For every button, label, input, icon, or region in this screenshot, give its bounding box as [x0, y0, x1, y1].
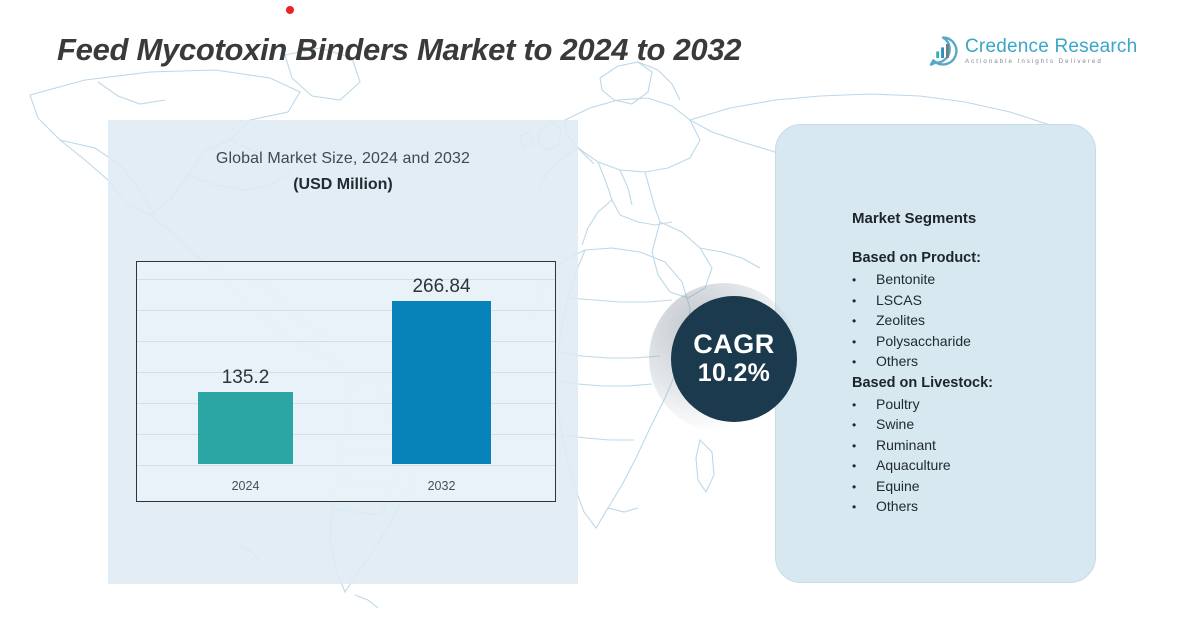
list-item-label: Zeolites [876, 311, 925, 331]
bar-value-2024: 135.2 [198, 367, 293, 389]
list-item: •Polysaccharide [852, 332, 1092, 353]
bar-2032 [392, 301, 491, 464]
brand-logo[interactable]: Credence Research Actionable Insights De… [928, 36, 1137, 66]
gridline [137, 465, 555, 466]
list-item: •Equine [852, 477, 1092, 498]
cagr-label: CAGR [693, 330, 775, 358]
list-item-label: Equine [876, 477, 920, 497]
bullet-icon: • [852, 478, 876, 498]
chart-subtitle: (USD Million) [108, 176, 578, 194]
category-label-2032: 2032 [392, 479, 491, 493]
list-item: •Others [852, 352, 1092, 373]
list-item-label: Ruminant [876, 436, 936, 456]
bar-value-2032: 266.84 [392, 276, 491, 298]
category-label-2024: 2024 [198, 479, 293, 493]
accent-dot-icon [286, 6, 294, 14]
bar-2024 [198, 392, 293, 464]
bar-chart: 135.2 266.84 2024 2032 [136, 261, 556, 502]
bullet-icon: • [852, 498, 876, 518]
page-title: Feed Mycotoxin Binders Market to 2024 to… [57, 32, 741, 68]
list-item-label: Polysaccharide [876, 332, 971, 352]
segment-group-title-product: Based on Product: [852, 250, 1092, 266]
segment-list-livestock: •Poultry •Swine •Ruminant •Aquaculture •… [852, 395, 1092, 518]
logo-company-name: Credence Research [965, 37, 1137, 56]
list-item: •Swine [852, 415, 1092, 436]
circle-bar-chart-logo-icon [928, 36, 958, 66]
list-item-label: LSCAS [876, 291, 922, 311]
list-item-label: Aquaculture [876, 456, 951, 476]
gridline [137, 341, 555, 342]
list-item-label: Swine [876, 415, 914, 435]
list-item-label: Poultry [876, 395, 920, 415]
bullet-icon: • [852, 353, 876, 373]
logo-tagline: Actionable Insights Delivered [965, 59, 1137, 65]
bullet-icon: • [852, 333, 876, 353]
segment-group-title-livestock: Based on Livestock: [852, 375, 1092, 391]
list-item-label: Others [876, 497, 918, 517]
bullet-icon: • [852, 312, 876, 332]
list-item: •Ruminant [852, 436, 1092, 457]
segments-title: Market Segments [852, 210, 1092, 227]
list-item: •Others [852, 497, 1092, 518]
bullet-icon: • [852, 292, 876, 312]
list-item-label: Others [876, 352, 918, 372]
market-segments-content: Market Segments Based on Product: •Bento… [852, 210, 1092, 518]
bullet-icon: • [852, 457, 876, 477]
list-item: •Poultry [852, 395, 1092, 416]
chart-title: Global Market Size, 2024 and 2032 [108, 150, 578, 168]
gridline [137, 279, 555, 280]
segment-list-product: •Bentonite •LSCAS •Zeolites •Polysacchar… [852, 270, 1092, 373]
gridline [137, 310, 555, 311]
bullet-icon: • [852, 271, 876, 291]
cagr-badge: CAGR 10.2% [671, 296, 797, 422]
list-item: •Aquaculture [852, 456, 1092, 477]
list-item: •Bentonite [852, 270, 1092, 291]
bullet-icon: • [852, 416, 876, 436]
bullet-icon: • [852, 396, 876, 416]
bullet-icon: • [852, 437, 876, 457]
list-item-label: Bentonite [876, 270, 935, 290]
list-item: •LSCAS [852, 291, 1092, 312]
list-item: •Zeolites [852, 311, 1092, 332]
cagr-value: 10.2% [698, 359, 770, 388]
